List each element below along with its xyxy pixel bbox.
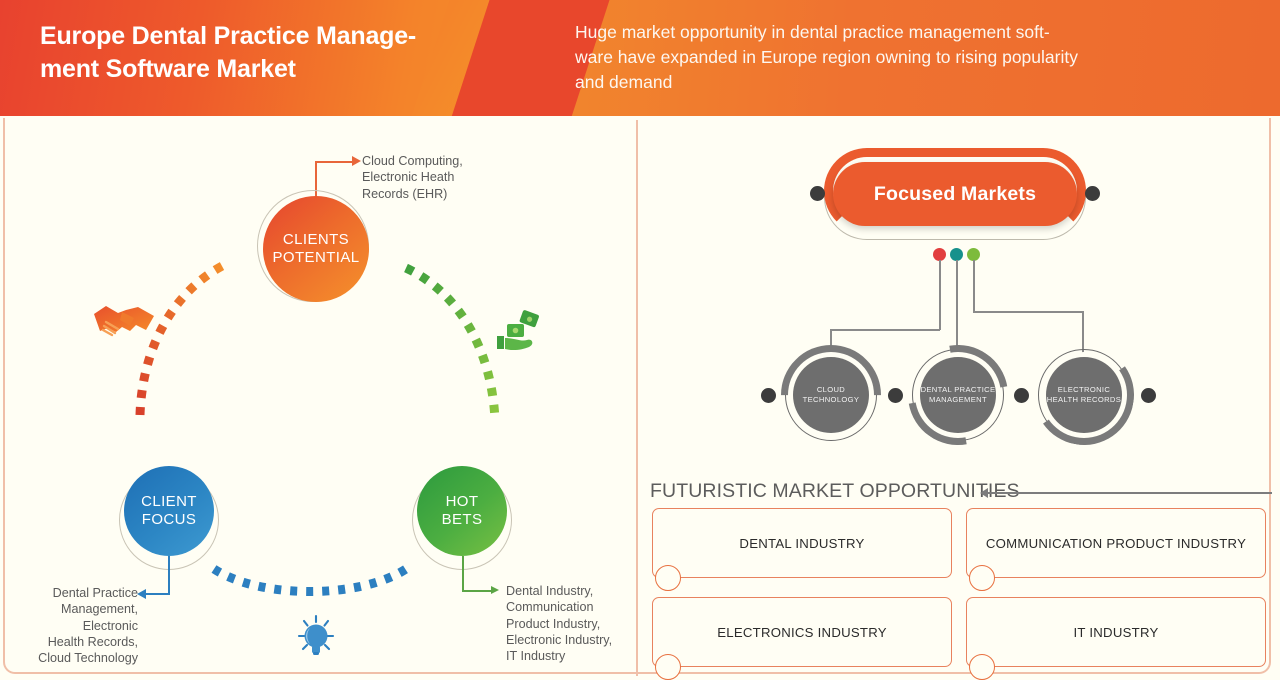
blue-dotted-arc [210,565,410,601]
infographic-root: Europe Dental Practice Manage- ment Soft… [0,0,1280,680]
focus-callout-arrowhead [137,589,146,599]
focused-markets-right-dot [1085,186,1100,201]
connector-left-h [830,329,940,331]
focused-markets-pill[interactable]: Focused Markets [833,162,1077,226]
header-subtitle: Huge market opportunity in dental practi… [575,20,1235,95]
orange-dotted-arc [130,255,235,420]
market-circle-dental-practice-management-group: DENTAL PRACTICE MANAGEMENT [908,345,1008,445]
focus-callout-line-v [168,556,170,594]
focused-markets-left-dot [810,186,825,201]
focused-markets-group: Focused Markets [810,148,1100,240]
header-banner: Europe Dental Practice Manage- ment Soft… [0,0,1280,116]
market-circle-electronic-health-records[interactable]: ELECTRONIC HEALTH RECORDS [1046,357,1122,433]
market-dot-1 [761,388,776,403]
opportunity-box-communication-product-industry[interactable]: COMMUNICATION PRODUCT INDUSTRY [966,508,1266,578]
opportunities-arrow-line [988,492,1272,494]
market-circle-dental-practice-management[interactable]: DENTAL PRACTICE MANAGEMENT [920,357,996,433]
hot-bets-callout: Dental Industry, Communication Product I… [506,583,641,665]
clients-potential-node[interactable]: CLIENTS POTENTIAL [263,196,369,302]
opportunity-box-dental-industry[interactable]: DENTAL INDUSTRY [652,508,952,578]
clients-potential-callout: Cloud Computing, Electronic Heath Record… [362,153,497,202]
client-focus-node[interactable]: CLIENT FOCUS [124,466,214,556]
hot-callout-line-h [462,590,492,592]
connector-right-h [973,311,1083,313]
page-title: Europe Dental Practice Manage- ment Soft… [40,20,510,87]
market-dot-4 [1141,388,1156,403]
market-circle-electronic-health-records-group: ELECTRONIC HEALTH RECORDS [1034,345,1134,445]
money-in-hand-icon [495,310,543,354]
hot-callout-arrowhead [491,586,499,594]
opportunity-box-electronics-industry[interactable]: ELECTRONICS INDUSTRY [652,597,952,667]
opportunity-dot-communication-product-industry [969,565,995,591]
opportunity-dot-electronics-industry [655,654,681,680]
opportunity-box-it-industry[interactable]: IT INDUSTRY [966,597,1266,667]
opportunities-arrowhead [980,488,988,498]
market-dot-3 [1014,388,1029,403]
green-dotted-arc [400,262,505,427]
opportunities-title: FUTURISTIC MARKET OPPORTUNITIES [650,480,1020,503]
clients-callout-arrowhead [352,156,361,166]
opportunity-dot-it-industry [969,654,995,680]
focus-callout-line-h [146,593,170,595]
connector-right-v1 [973,260,975,312]
connector-mid-v [956,260,958,355]
market-circle-cloud-technology[interactable]: CLOUD TECHNOLOGY [793,357,869,433]
client-focus-callout: Dental Practice Management, Electronic H… [8,585,138,667]
hot-bets-node[interactable]: HOT BETS [417,466,507,556]
market-dot-2 [888,388,903,403]
clients-callout-line-h [315,161,354,163]
hot-callout-line-v [462,556,464,591]
opportunity-dot-dental-industry [655,565,681,591]
connector-left-v1 [939,260,941,330]
lightbulb-icon [296,614,336,660]
market-circle-cloud-technology-group: CLOUD TECHNOLOGY [781,345,881,445]
